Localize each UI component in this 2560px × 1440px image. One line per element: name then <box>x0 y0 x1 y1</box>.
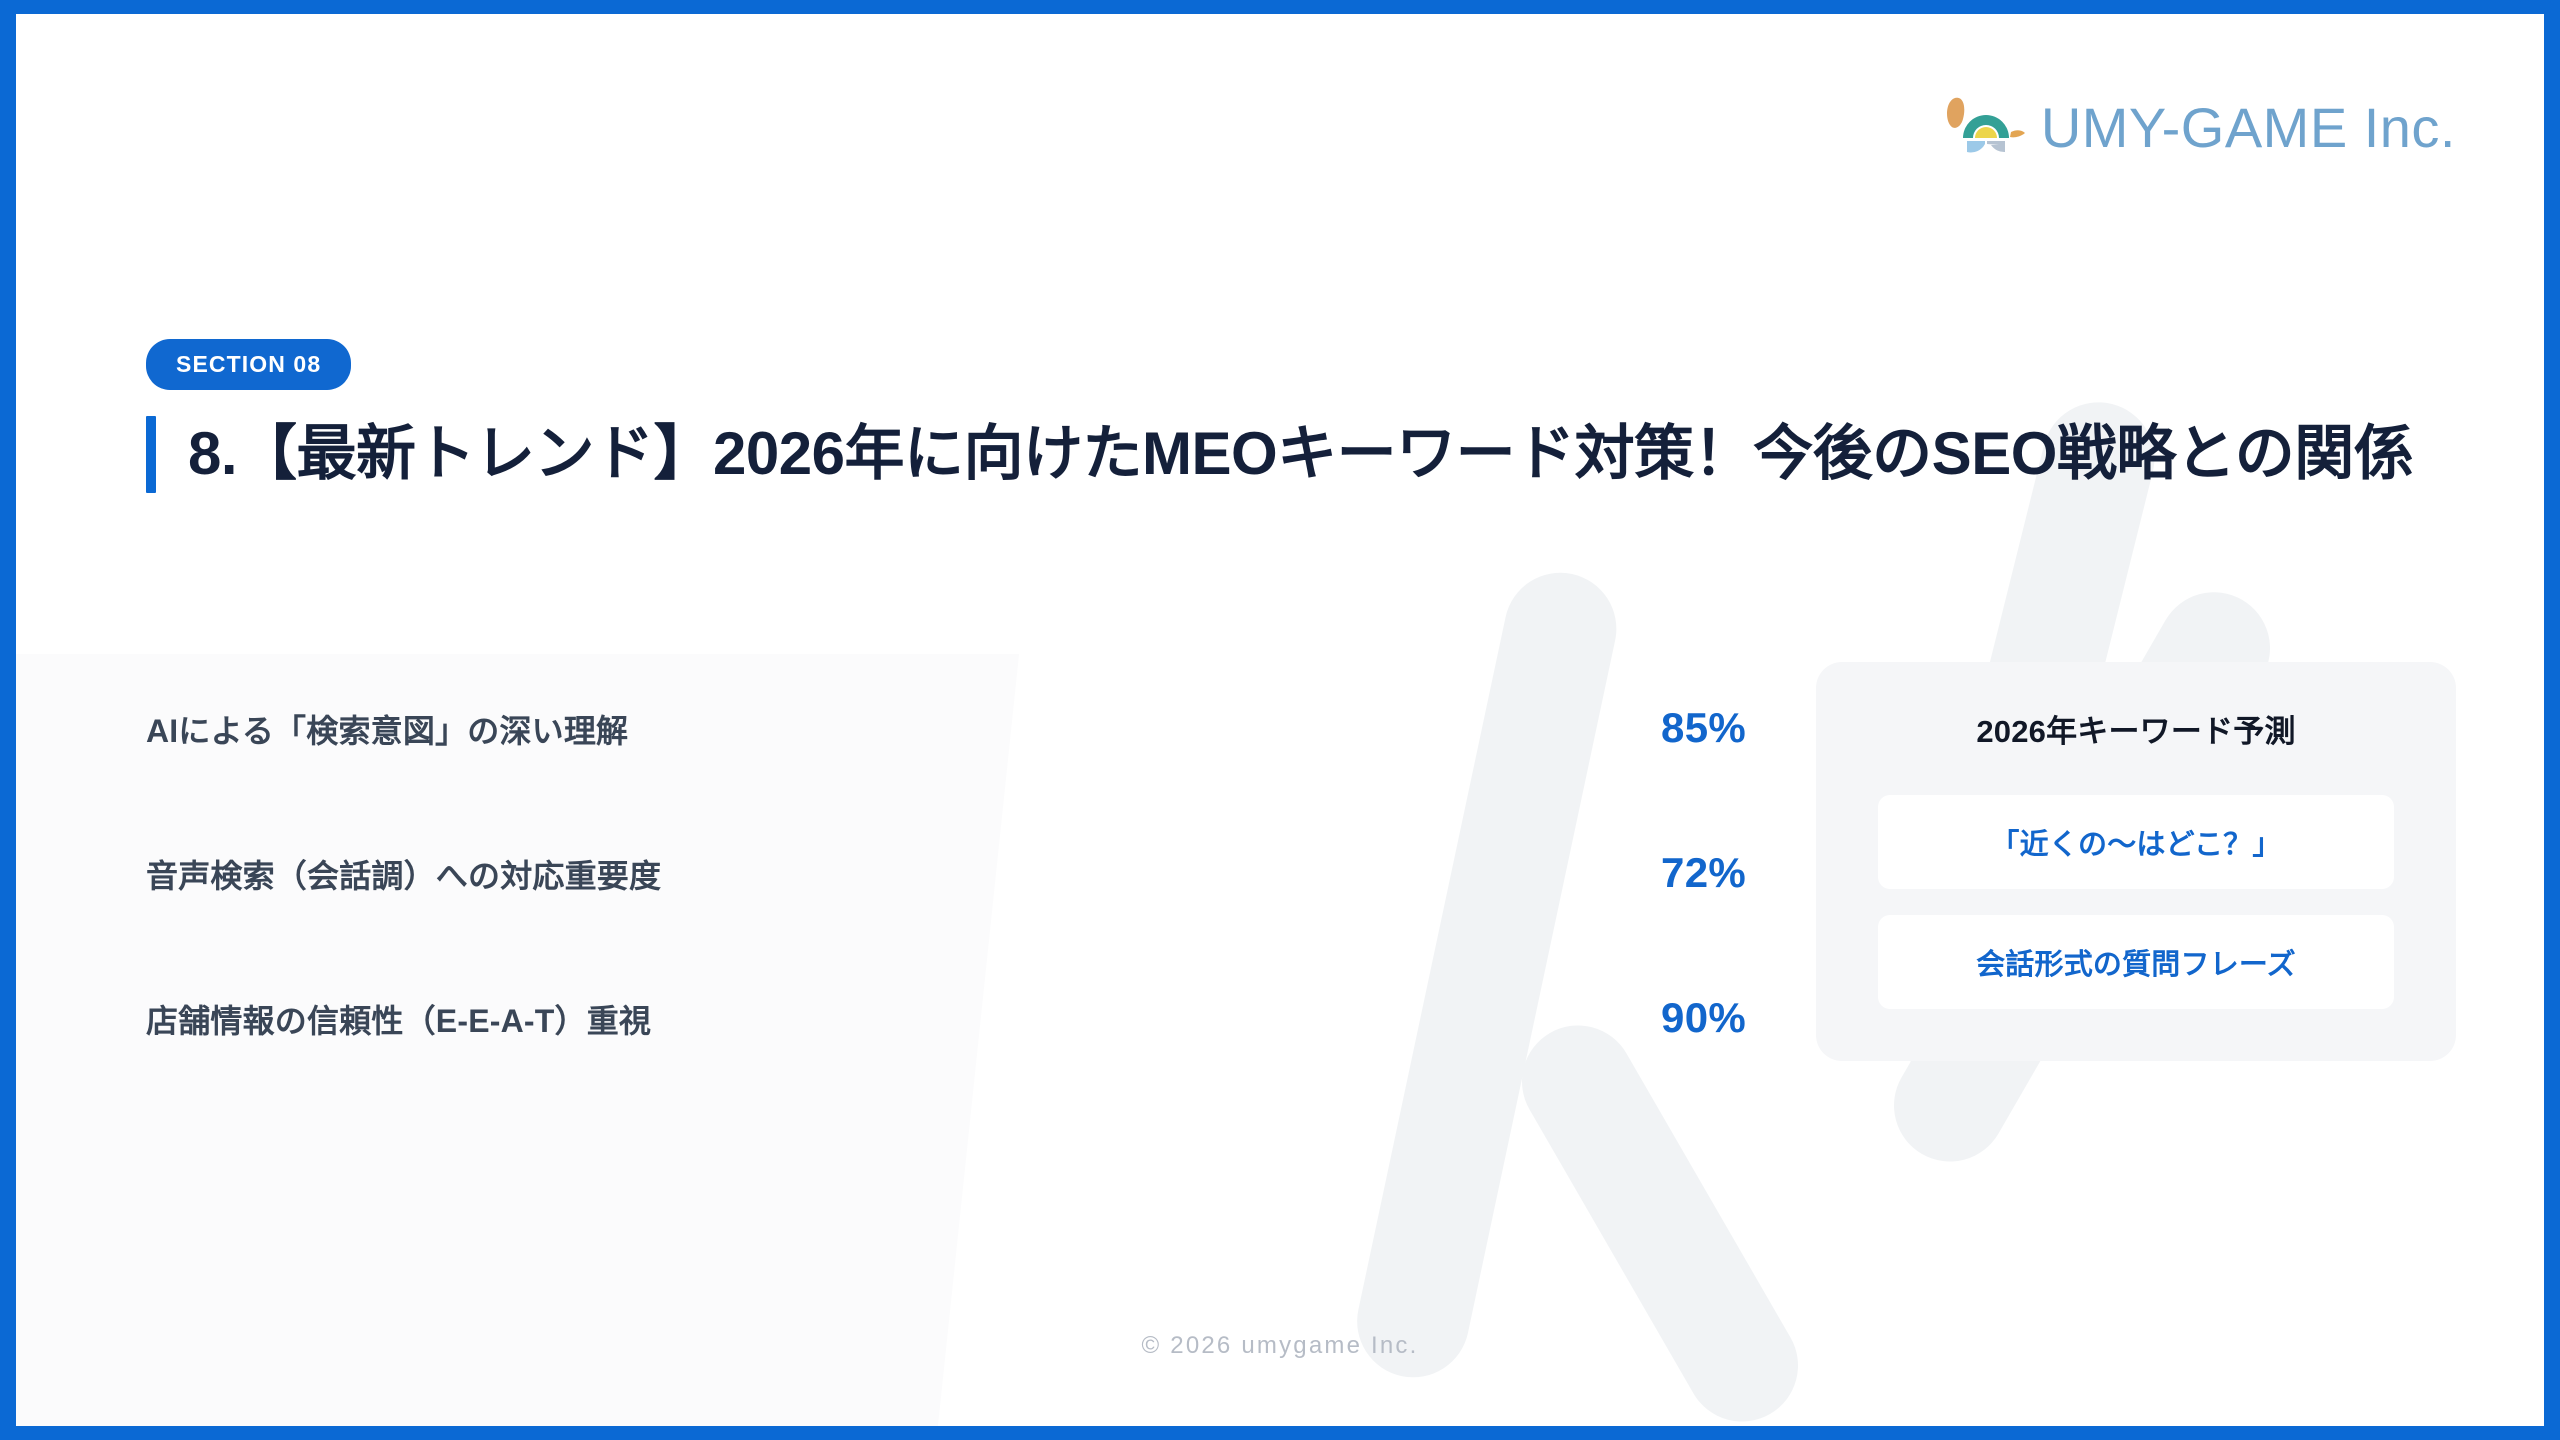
section-badge: SECTION 08 <box>146 339 351 390</box>
keyword-chip: 「近くの〜はどこ？」 <box>1878 795 2394 889</box>
brand-logo-text: UMY-GAME Inc. <box>2041 100 2456 156</box>
keyword-prediction-card: 2026年キーワード予測 「近くの〜はどこ？」 会話形式の質問フレーズ <box>1816 662 2456 1061</box>
keyword-card-title: 2026年キーワード予測 <box>1878 706 2394 751</box>
metric-row: 音声検索（会話調）への対応重要度 72% <box>146 849 1746 994</box>
keyword-chip: 会話形式の質問フレーズ <box>1878 915 2394 1009</box>
brand-logo: UMY-GAME Inc. <box>1941 92 2456 164</box>
metric-label: AIによる「検索意図」の深い理解 <box>146 706 628 752</box>
metric-row: AIによる「検索意図」の深い理解 85% <box>146 704 1746 849</box>
slide-canvas: UMY-GAME Inc. SECTION 08 8.【最新トレンド】2026年… <box>16 14 2544 1426</box>
metric-value: 85% <box>1661 704 1746 752</box>
umy-game-logo-icon <box>1941 92 2027 164</box>
metric-row: 店舗情報の信頼性（E-E-A-T）重視 90% <box>146 994 1746 1139</box>
metric-label: 音声検索（会話調）への対応重要度 <box>146 851 661 897</box>
metric-value: 90% <box>1661 994 1746 1042</box>
page-title: 8.【最新トレンド】2026年に向けたMEOキーワード対策！今後のSEO戦略との… <box>146 416 2446 493</box>
metric-label: 店舗情報の信頼性（E-E-A-T）重視 <box>146 996 651 1042</box>
slide-frame: UMY-GAME Inc. SECTION 08 8.【最新トレンド】2026年… <box>0 0 2560 1440</box>
title-accent-bar <box>146 416 156 493</box>
title-text: 8.【最新トレンド】2026年に向けたMEOキーワード対策！今後のSEO戦略との… <box>188 416 2413 493</box>
metric-value: 72% <box>1661 849 1746 897</box>
footer-copyright: © 2026 umygame Inc. <box>16 1332 2544 1360</box>
metrics-list: AIによる「検索意図」の深い理解 85% 音声検索（会話調）への対応重要度 72… <box>146 704 1746 1139</box>
